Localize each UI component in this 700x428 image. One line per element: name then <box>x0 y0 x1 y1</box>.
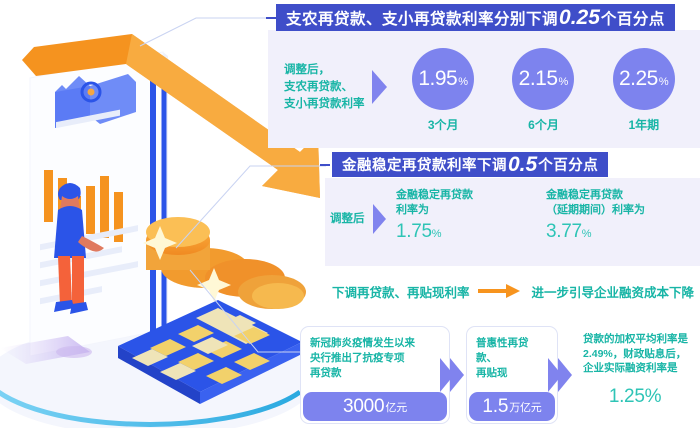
rate-circle-item: 2.15 % 6个月 <box>497 48 589 133</box>
banner-top-text-before: 支农再贷款、支小再贷款利率分别下调 <box>286 7 558 29</box>
stability-rate-columns: 金融稳定再贷款 利率为 1.75% 金融稳定再贷款 （延期期间）利率为 3.77… <box>386 188 696 243</box>
banner-agri-rate-cut: 支农再贷款、支小再贷款利率分别下调0.25个百分点 <box>276 4 675 31</box>
stability-normal-title-1: 金融稳定再贷款 <box>396 188 546 203</box>
policy-effect-cause: 下调再贷款、再贴现利率 <box>332 282 470 301</box>
banner-mid-value: 0.5 <box>507 153 538 177</box>
banner-mid-tick <box>320 164 330 166</box>
card-2-line-2: 再贴现 <box>476 366 549 381</box>
card-2-unit: 万亿元 <box>509 399 541 415</box>
stability-deferred-title-2: （延期期间）利率为 <box>546 203 696 218</box>
rate-circle-item: 1.95 % 3个月 <box>397 48 489 133</box>
card-effective-rate: 贷款的加权平均利率是 2.49%，财政贴息后， 企业实际融资利率是 1.25% <box>574 326 696 424</box>
rate-circle-item: 2.25 % 1年期 <box>598 48 690 133</box>
banner-mid-text-after: 个百分点 <box>538 154 598 175</box>
stability-rates-row: 调整后 金融稳定再贷款 利率为 1.75% 金融稳定再贷款 （延期期间）利率为 … <box>330 188 696 260</box>
policy-effect-result: 进一步引导企业融资成本下降 <box>532 282 695 301</box>
card-1-line-2: 央行推出了抗疫专项 <box>310 351 441 366</box>
card-2-line-1: 普惠性再贷款、 <box>476 336 549 366</box>
card-1-number: 3000 <box>343 396 384 418</box>
infographic-canvas: 支农再贷款、支小再贷款利率分别下调0.25个百分点 调整后， 支农再贷款、 支小… <box>0 0 700 428</box>
rate-circle-6m: 2.15 % <box>512 48 574 110</box>
card-1-value: 3000亿元 <box>303 392 447 421</box>
chevron-right-icon <box>558 358 574 392</box>
stability-rate-normal: 金融稳定再贷款 利率为 1.75% <box>396 188 546 243</box>
card-1-unit: 亿元 <box>385 399 407 415</box>
stability-rates-label: 调整后 <box>330 188 371 226</box>
triangle-arrow-icon <box>373 204 386 234</box>
rate-circle-3m: 1.95 % <box>412 48 474 110</box>
agri-rates-row: 调整后， 支农再贷款、 支小再贷款利率 1.95 % 3个月 2.15 % 6个… <box>284 48 694 144</box>
agri-rates-label: 调整后， 支农再贷款、 支小再贷款利率 <box>284 48 368 113</box>
relending-cards-row: 新冠肺炎疫情发生以来 央行推出了抗疫专项 再贷款 3000亿元 普惠性再贷款、 … <box>300 326 698 424</box>
card-2-text: 普惠性再贷款、 再贴现 <box>467 327 557 381</box>
stability-normal-value: 1.75% <box>396 221 546 243</box>
rate-value-3m: 1.95 <box>418 67 457 91</box>
agri-rate-circles: 1.95 % 3个月 2.15 % 6个月 2.25 % 1年期 <box>387 48 694 133</box>
card-2-number: 1.5 <box>482 396 508 418</box>
card-3-line-1: 贷款的加权平均利率是 <box>583 332 688 347</box>
card-1-line-1: 新冠肺炎疫情发生以来 <box>310 336 441 351</box>
agri-rates-label-line-1: 调整后， <box>284 62 368 79</box>
stability-deferred-title-1: 金融稳定再贷款 <box>546 188 696 203</box>
banner-top-tick <box>266 17 276 19</box>
stability-rate-deferred: 金融稳定再贷款 （延期期间）利率为 3.77% <box>546 188 696 243</box>
banner-mid-text-before: 金融稳定再贷款利率下调 <box>342 154 507 175</box>
rate-value-1y: 2.25 <box>619 67 658 91</box>
triangle-arrow-icon <box>372 70 387 104</box>
card-3-line-3: 企业实际融资利率是 <box>583 361 688 376</box>
card-1-text: 新冠肺炎疫情发生以来 央行推出了抗疫专项 再贷款 <box>301 327 449 381</box>
banner-top-text-after: 个百分点 <box>601 7 665 29</box>
rate-value-6m: 2.15 <box>519 67 558 91</box>
card-1-line-3: 再贷款 <box>310 366 441 381</box>
card-3-value: 1.25% <box>574 386 696 424</box>
stability-normal-title-2: 利率为 <box>396 203 546 218</box>
rate-circle-1y: 2.25 % <box>613 48 675 110</box>
rate-unit-3m: % <box>458 76 468 88</box>
rate-caption-6m: 6个月 <box>528 116 559 133</box>
card-inclusive-relending: 普惠性再贷款、 再贴现 1.5万亿元 <box>466 326 558 424</box>
chevron-right-icon <box>450 358 466 392</box>
policy-effect-row: 下调再贷款、再贴现利率 进一步引导企业融资成本下降 <box>332 280 697 302</box>
rate-unit-6m: % <box>559 76 569 88</box>
agri-rates-label-line-3: 支小再贷款利率 <box>284 96 368 113</box>
card-3-text: 贷款的加权平均利率是 2.49%，财政贴息后， 企业实际融资利率是 <box>574 326 696 376</box>
stability-deferred-value: 3.77% <box>546 221 696 243</box>
right-arrow-icon <box>478 284 524 298</box>
stability-normal-unit: % <box>432 228 441 240</box>
stability-deferred-unit: % <box>582 228 591 240</box>
card-2-value: 1.5万亿元 <box>469 392 555 421</box>
rate-caption-3m: 3个月 <box>428 116 459 133</box>
card-3-line-2: 2.49%，财政贴息后， <box>583 347 688 362</box>
rate-caption-1y: 1年期 <box>628 116 659 133</box>
stability-normal-number: 1.75 <box>396 221 432 242</box>
card-special-relending: 新冠肺炎疫情发生以来 央行推出了抗疫专项 再贷款 3000亿元 <box>300 326 450 424</box>
agri-rates-label-line-2: 支农再贷款、 <box>284 79 368 96</box>
banner-stability-rate-cut: 金融稳定再贷款利率下调0.5个百分点 <box>332 152 608 177</box>
stability-deferred-number: 3.77 <box>546 221 582 242</box>
banner-top-value: 0.25 <box>558 6 601 30</box>
rate-unit-1y: % <box>659 76 669 88</box>
